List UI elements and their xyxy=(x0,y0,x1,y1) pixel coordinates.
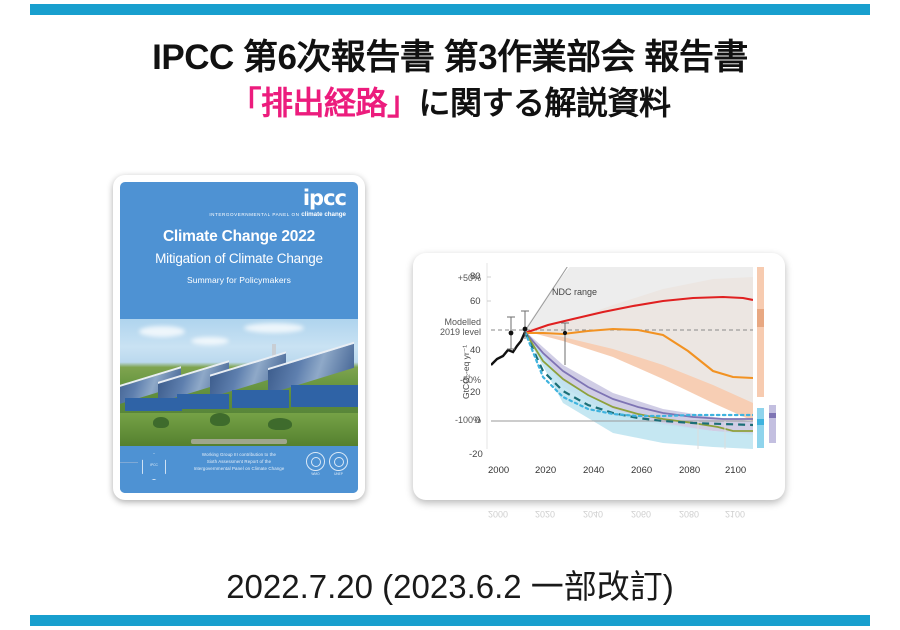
y-axis-title: GtCO₂-eq yr⁻¹ xyxy=(461,345,472,399)
two-degree-median-marker xyxy=(769,413,776,418)
page-title-rest: に関する解説資料 xyxy=(419,85,671,121)
reflection-tick-2040: 2040 xyxy=(583,509,603,519)
wmo-label: WMO xyxy=(306,472,325,476)
page-title-line2: 「排出経路」に関する解説資料 xyxy=(0,85,900,122)
x-tick-2040: 2040 xyxy=(583,465,604,476)
top-accent-bar xyxy=(30,4,870,15)
reflection-tick-2100: 2100 xyxy=(725,509,745,519)
secondary-axis-label-minus100: -100% xyxy=(419,415,481,425)
house-shape xyxy=(232,390,289,408)
unep-label: UNEP xyxy=(329,472,348,476)
cover-title: Climate Change 2022 xyxy=(120,228,358,246)
title-block: IPCC 第6次報告書 第3作業部会 報告書 「排出経路」に関する解説資料 xyxy=(0,38,900,122)
date-footer: 2022.7.20 (2023.6.2 一部改訂) xyxy=(0,560,900,608)
reflection-tick-2000: 2000 xyxy=(488,509,508,519)
data-point xyxy=(523,327,528,332)
reflection-tick-2080: 2080 xyxy=(679,509,699,519)
bush-shape xyxy=(153,417,169,428)
x-tick-2020: 2020 xyxy=(535,465,556,476)
chart-reflection: 2000 2020 2040 2060 2080 2100 xyxy=(413,505,785,521)
cloud-shape xyxy=(191,337,229,345)
y-tick-0: 0 xyxy=(475,415,480,426)
unep-logo-group: UNEP xyxy=(329,452,348,476)
cover-photograph xyxy=(120,319,358,447)
house-shape xyxy=(291,385,358,407)
cloud-shape xyxy=(139,326,185,337)
ndc-range-annotation: NDC range xyxy=(552,287,597,297)
ipcc-logo-wordmark: ipcc xyxy=(209,189,346,209)
cover-header: ipcc INTERGOVERNMENTAL PANEL ON climate … xyxy=(120,182,358,322)
y-tick-80: 80 xyxy=(470,271,481,282)
ipcc-logo-tagline: INTERGOVERNMENTAL PANEL ON climate chang… xyxy=(209,211,346,218)
one-point-five-median-marker xyxy=(757,419,764,425)
data-point xyxy=(563,331,567,335)
x-tick-2060: 2060 xyxy=(631,465,652,476)
bush-shape xyxy=(210,413,230,426)
current-policies-median-marker xyxy=(757,309,764,327)
reflection-tick-2020: 2020 xyxy=(535,509,555,519)
cloud-shape xyxy=(244,323,304,333)
cover-canvas: ipcc INTERGOVERNMENTAL PANEL ON climate … xyxy=(120,182,358,493)
cover-title-group: Climate Change 2022 Mitigation of Climat… xyxy=(120,228,358,285)
cover-kicker: Summary for Policymakers xyxy=(120,275,358,285)
wmo-logo-icon xyxy=(306,452,325,471)
data-point xyxy=(509,331,514,336)
cover-footer: IPCC Working Group III contribution to t… xyxy=(120,446,358,493)
ipcc-tagline-bold: climate change xyxy=(301,211,346,218)
bottom-accent-bar xyxy=(30,615,870,626)
current-policies-summary-bar xyxy=(757,267,764,397)
house-shape xyxy=(177,394,229,409)
page-title-highlight: 「排出経路」 xyxy=(229,85,418,121)
secondary-axis-label-modelled2019: Modelled2019 level xyxy=(415,317,481,338)
x-tick-2100: 2100 xyxy=(725,465,746,476)
cover-subtitle: Mitigation of Climate Change xyxy=(120,251,358,266)
y-tick-60: 60 xyxy=(470,296,481,307)
two-degree-summary-bar xyxy=(769,405,776,443)
y-tick-minus20: -20 xyxy=(469,449,483,460)
organization-logos: WMO UNEP xyxy=(306,452,348,476)
unep-logo-icon xyxy=(329,452,348,471)
page-title-line1: IPCC 第6次報告書 第3作業部会 報告書 xyxy=(0,38,900,77)
ipcc-logo: ipcc INTERGOVERNMENTAL PANEL ON climate … xyxy=(209,189,346,218)
garden-path xyxy=(191,439,286,444)
report-cover-image: ipcc INTERGOVERNMENTAL PANEL ON climate … xyxy=(113,175,365,500)
one-point-five-summary-bar xyxy=(757,408,764,448)
bush-shape xyxy=(268,418,292,430)
x-tick-2000: 2000 xyxy=(488,465,509,476)
emissions-pathway-chart-card: +50% Modelled2019 level -50% -100% 80 60… xyxy=(413,253,785,500)
reflection-tick-2060: 2060 xyxy=(631,509,651,519)
house-shape xyxy=(125,398,182,411)
y-tick-marks xyxy=(487,277,491,301)
x-tick-2080: 2080 xyxy=(679,465,700,476)
ipcc-tagline-prefix: INTERGOVERNMENTAL PANEL ON xyxy=(209,212,301,217)
wmo-logo-group: WMO xyxy=(306,452,325,476)
